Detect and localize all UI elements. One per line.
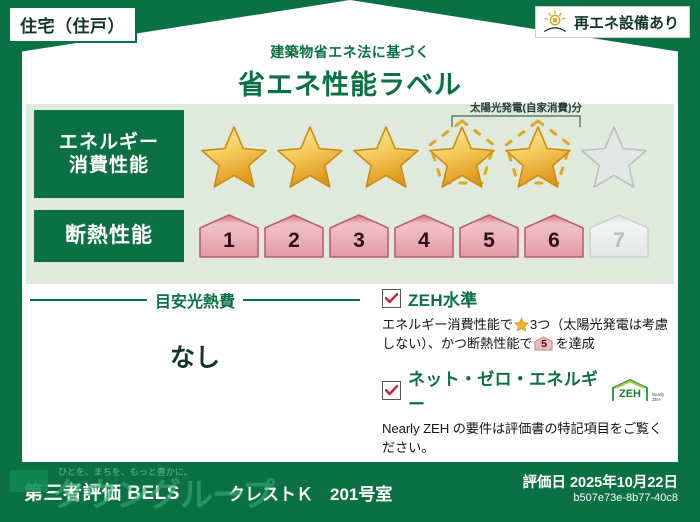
insulation-level-6: 6 bbox=[523, 213, 585, 259]
energy-performance-row: エネルギー 消費性能 太陽光発電(自家消費)分 bbox=[26, 108, 674, 200]
title-subtitle: 建築物省エネ法に基づく bbox=[0, 42, 700, 62]
insulation-level-number: 5 bbox=[458, 229, 520, 253]
zeh-netzero-block: ネット・ゼロ・エネルギー ZEH Nearly ZEH Nearly ZEH の… bbox=[382, 365, 674, 457]
zeh-logo: ZEH Nearly ZEH bbox=[610, 378, 674, 403]
energy-performance-label: 住宅（住戸） 再エネ設備あり 建築物省エネ法に基づく 省エネ性能ラベル エネルギ… bbox=[0, 0, 700, 522]
insulation-level-7: 7 bbox=[588, 213, 650, 259]
record-id: b507e73e-8b77-40c8 bbox=[573, 492, 678, 504]
insulation-level-number: 2 bbox=[263, 229, 325, 253]
sun-icon bbox=[542, 10, 568, 34]
insulation-level-2: 2 bbox=[263, 213, 325, 259]
star-glyph bbox=[502, 119, 574, 189]
solar-annotation-caption: 太陽光発電(自家消費)分 bbox=[456, 100, 596, 115]
rule-left bbox=[30, 299, 147, 301]
zeh-standard-block: ZEH水準 エネルギー消費性能で3つ（太陽光発電は考慮しない）、かつ断熱性能で5… bbox=[382, 286, 674, 353]
star-glyph bbox=[198, 119, 270, 189]
energy-performance-label-box: エネルギー 消費性能 bbox=[34, 110, 184, 198]
renewable-energy-label: 再エネ設備あり bbox=[574, 12, 679, 33]
energy-label-line1: エネルギー bbox=[59, 131, 159, 154]
zeh-body-text-3: を達成 bbox=[555, 336, 594, 351]
zeh-standard-checkbox[interactable] bbox=[382, 289, 401, 308]
insulation-level-inline-icon: 5 bbox=[534, 336, 553, 351]
zeh-netzero-header: ネット・ゼロ・エネルギー ZEH Nearly ZEH bbox=[382, 365, 674, 415]
star-rating bbox=[198, 119, 650, 189]
svg-text:ZEH: ZEH bbox=[619, 388, 641, 400]
star-5 bbox=[502, 119, 574, 189]
zeh-body-text-1: エネルギー消費性能で bbox=[382, 317, 513, 332]
evaluation-date-value: 2025年10月22日 bbox=[570, 475, 678, 491]
watermark-brand: タウングループ bbox=[52, 468, 274, 516]
svg-text:ZEH: ZEH bbox=[652, 397, 660, 402]
insulation-label: 断熱性能 bbox=[65, 223, 153, 249]
renewable-energy-badge: 再エネ設備あり bbox=[535, 6, 690, 38]
insulation-level-inline-number: 5 bbox=[534, 337, 553, 352]
title-block: 建築物省エネ法に基づく 省エネ性能ラベル bbox=[0, 42, 700, 102]
zeh-house-icon: ZEH bbox=[610, 378, 650, 403]
insulation-level-5: 5 bbox=[458, 213, 520, 259]
watermark-mark bbox=[10, 470, 48, 492]
utility-cost-title: 目安光熱費 bbox=[155, 288, 235, 312]
star-icon bbox=[514, 317, 529, 332]
check-icon bbox=[385, 385, 398, 396]
zeh-logo-sub-icon: Nearly ZEH bbox=[652, 391, 674, 403]
check-icon bbox=[385, 293, 398, 304]
insulation-level-number: 7 bbox=[588, 229, 650, 253]
insulation-level-scale: 1234567 bbox=[198, 213, 650, 259]
performance-card: エネルギー 消費性能 太陽光発電(自家消費)分 断熱性能 1234567 bbox=[26, 104, 674, 284]
star-glyph bbox=[350, 119, 422, 189]
zeh-standard-title: ZEH水準 bbox=[408, 286, 478, 311]
rule-right bbox=[243, 299, 360, 301]
zeh-standard-header: ZEH水準 bbox=[382, 286, 674, 311]
star-6 bbox=[578, 119, 650, 189]
insulation-level-number: 3 bbox=[328, 229, 390, 253]
insulation-level-number: 1 bbox=[198, 229, 260, 253]
insulation-performance-label-box: 断熱性能 bbox=[34, 210, 184, 262]
insulation-level-1: 1 bbox=[198, 213, 260, 259]
star-glyph bbox=[274, 119, 346, 189]
insulation-level-number: 4 bbox=[393, 229, 455, 253]
house-type-chip: 住宅（住戸） bbox=[8, 6, 137, 43]
evaluation-date-label: 評価日 bbox=[522, 475, 566, 491]
star-4 bbox=[426, 119, 498, 189]
insulation-performance-row: 断熱性能 1234567 bbox=[26, 208, 674, 264]
utility-cost-value: なし bbox=[30, 338, 360, 374]
star-2 bbox=[274, 119, 346, 189]
zeh-section: ZEH水準 エネルギー消費性能で3つ（太陽光発電は考慮しない）、かつ断熱性能で5… bbox=[382, 286, 674, 458]
utility-cost-block: 目安光熱費 なし bbox=[30, 288, 360, 374]
utility-cost-header: 目安光熱費 bbox=[30, 288, 360, 312]
watermark-overlay: TOWN GROUP ひとを、まちを、もっと豊かに。 タウングループ bbox=[0, 452, 260, 522]
page-title: 省エネ性能ラベル bbox=[0, 63, 700, 102]
zeh-netzero-body: Nearly ZEH の要件は評価書の特記項目をご覧ください。 bbox=[382, 419, 674, 457]
zeh-netzero-checkbox[interactable] bbox=[382, 381, 401, 400]
star-3 bbox=[350, 119, 422, 189]
energy-label-line2: 消費性能 bbox=[69, 154, 149, 177]
insulation-level-4: 4 bbox=[393, 213, 455, 259]
insulation-level-number: 6 bbox=[523, 229, 585, 253]
solar-bracket-icon bbox=[451, 114, 581, 128]
evaluation-date: 評価日 2025年10月22日 bbox=[522, 471, 678, 492]
star-1 bbox=[198, 119, 270, 189]
star-glyph bbox=[426, 119, 498, 189]
star-glyph bbox=[578, 119, 650, 189]
zeh-netzero-title: ネット・ゼロ・エネルギー bbox=[408, 365, 599, 415]
insulation-level-3: 3 bbox=[328, 213, 390, 259]
zeh-standard-body: エネルギー消費性能で3つ（太陽光発電は考慮しない）、かつ断熱性能で5を達成 bbox=[382, 315, 674, 353]
